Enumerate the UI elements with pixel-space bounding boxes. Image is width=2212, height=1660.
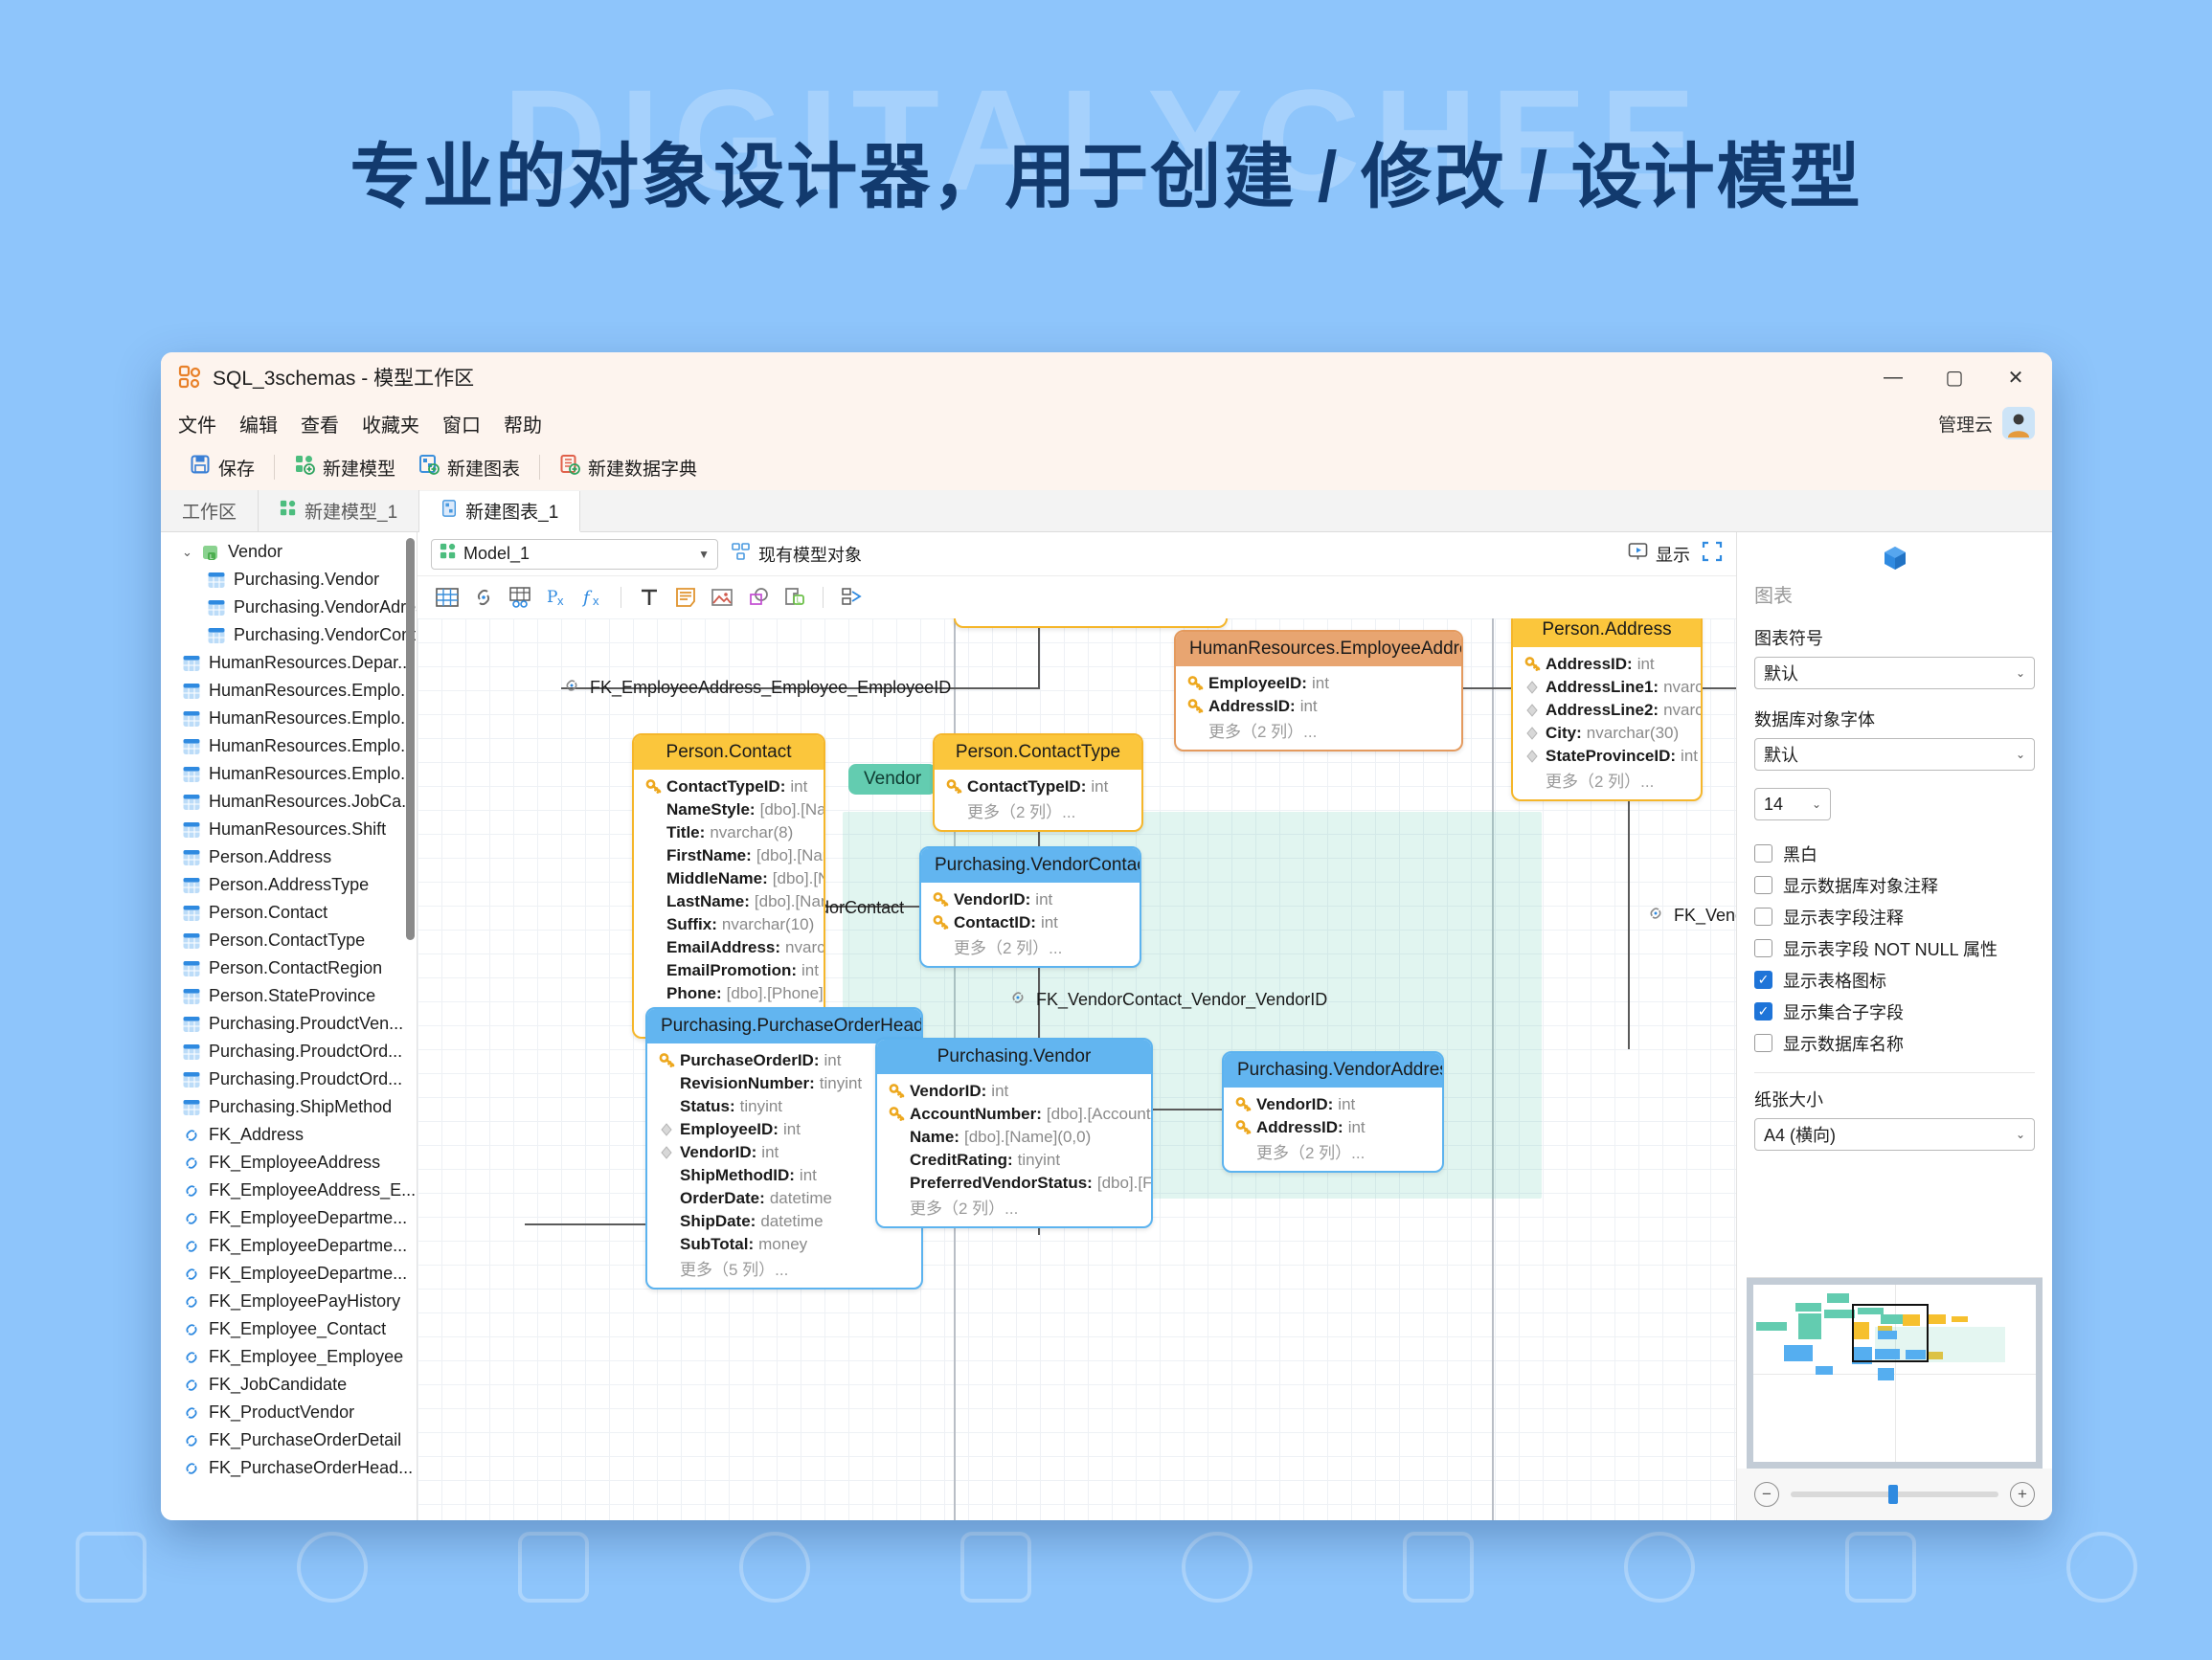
menu-item-window[interactable]: 窗口 [442,410,481,437]
model-select-value: Model_1 [463,544,530,564]
decor-icon [1624,1532,1695,1603]
tree-item-label: FK_EmployeeAddress_E... [209,1180,416,1200]
table-node-fields: VendorID:intAccountNumber:[dbo].[Account… [877,1074,1151,1226]
tree-item[interactable]: Purchasing.ShipMethod [161,1093,417,1121]
display-option-row[interactable]: 显示数据库名称 [1754,1027,2035,1059]
relation-label[interactable]: FK_VendorContact_Vendor_VendorID [1007,988,1327,1012]
function-icon[interactable]: fx [576,583,609,612]
decor-icon [2066,1532,2137,1603]
tab-workspace[interactable]: 工作区 [161,490,259,531]
table-field-row: EmployeeID:int [657,1118,912,1141]
minimap-area: − + [1737,1277,2052,1520]
tree-item[interactable]: HumanResources.Shift [161,816,417,843]
table-field-row: AddressLine2:nvarchar(... [1523,699,1691,722]
tree-item-label: HumanResources.Emplo... [209,708,415,729]
table-icon [182,1015,201,1034]
primary-key-icon [1187,698,1208,715]
chevron-down-icon: ⌄ [2016,748,2025,761]
field-name: EmployeeID: [1208,673,1307,694]
symbol-select[interactable]: 默认 ⌄ [1754,657,2035,689]
display-option-row[interactable]: 显示表字段注释 [1754,901,2035,932]
minimize-button[interactable]: — [1862,352,1924,402]
tree-item[interactable]: FK_Address [161,1121,417,1149]
foreign-key-icon [182,1431,201,1450]
tree-item[interactable]: Purchasing.ProudctOrd... [161,1066,417,1093]
paper-size-select[interactable]: A4 (横向) ⌄ [1754,1118,2035,1151]
tree-item-label: Purchasing.ShipMethod [209,1097,392,1117]
field-type: int [1041,912,1058,933]
field-name: AddressLine1: [1546,677,1659,698]
tree-item[interactable]: HumanResources.Emplo... [161,677,417,705]
relation-icon[interactable] [467,583,500,612]
tree-item-label: FK_Employee_Employee [209,1347,403,1367]
field-name: PreferredVendorStatus: [910,1173,1093,1194]
field-type: int [1681,746,1698,767]
decor-icon [518,1532,589,1603]
decor-icon [960,1532,1031,1603]
zoom-bar: − + [1737,1469,2052,1520]
table-node-fields: VendorID:intAddressID:int更多（2 列）... [1224,1088,1442,1171]
field-type: money [758,1234,807,1255]
tree-item-label: Purchasing.Vendor [234,570,379,590]
tree-item-label: FK_EmployeePayHistory [209,1291,400,1312]
table-node-title: Purchasing.VendorContact [921,848,1140,883]
table-more-columns[interactable]: 更多（5 列）... [657,1256,912,1280]
field-name: ContactTypeID: [967,776,1086,797]
field-name: ContactTypeID: [666,776,785,797]
tree-item[interactable]: Person.Address [161,843,417,871]
foreign-key-icon [182,1237,201,1256]
table-field-row: NameStyle:[dbo].[NameSt... [643,798,814,821]
minimap-inner[interactable] [1753,1285,2036,1462]
field-name: ShipMethodID: [680,1165,795,1186]
account-area[interactable]: 管理云 [1938,407,2035,439]
avatar[interactable] [2002,407,2035,439]
column-marker-icon [1524,703,1546,718]
table-field-row: PurchaseOrderID:int [657,1049,912,1072]
maximize-button[interactable]: ▢ [1924,352,1985,402]
tree-item[interactable]: Purchasing.ProudctOrd... [161,1038,417,1066]
table-more-columns[interactable]: 更多（2 列）... [931,934,1130,958]
column-marker-icon [1524,726,1546,741]
table-icon [182,820,201,840]
table-icon [182,959,201,978]
account-label: 管理云 [1938,411,1993,437]
checkbox[interactable] [1754,876,1772,894]
checkbox[interactable] [1754,844,1772,863]
zoom-in-button[interactable]: + [2010,1482,2035,1507]
minimap-node [1878,1368,1895,1380]
menu-item-edit[interactable]: 编辑 [239,410,278,437]
menu-bar: 文件 编辑 查看 收藏夹 窗口 帮助 管理云 [161,402,2052,444]
minimap[interactable] [1747,1277,2043,1469]
field-type: tinyint [740,1096,782,1117]
table-icon [182,1043,201,1062]
field-name: EmployeeID: [680,1119,779,1140]
field-type: nvarchar(... [1663,677,1703,698]
table-icon [182,987,201,1006]
tree-item[interactable]: Person.Contact [161,899,417,927]
table-field-row: EmailAddress:nvarchar(50) [643,936,814,959]
table-field-row: ContactTypeID:int [944,775,1132,798]
display-option-label: 显示表字段 NOT NULL 属性 [1783,936,1998,961]
field-name: City: [1546,723,1582,744]
foreign-key-icon [182,1320,201,1339]
table-field-row: VendorID:int [657,1141,912,1164]
tree-item[interactable]: FK_EmployeeDepartme... [161,1260,417,1288]
diagram-canvas[interactable]: Vendor FK_EmployeeAddress_E [418,618,1736,1520]
chevron-down-icon: ⌄ [1812,797,1821,811]
field-name: SubTotal: [680,1234,754,1255]
tree-item[interactable]: FK_PurchaseOrderHead... [161,1454,417,1482]
table-field-row: AddressID:int [1185,695,1452,718]
paper-size-label: 纸张大小 [1754,1087,2035,1111]
primary-key-icon [645,778,666,796]
field-name: StateProvinceID: [1546,746,1676,767]
diagram-table-node[interactable]: Person.AddressAddressID:intAddressLine1:… [1511,618,1703,801]
decor-icon [297,1532,368,1603]
primary-key-icon [1524,656,1546,673]
minimap-node [1816,1366,1833,1375]
field-type: [dbo].[Phone](0,0) [727,983,825,1004]
decor-icon [1845,1532,1916,1603]
table-field-row: EmployeeID:int [1185,672,1452,695]
tree-item[interactable]: FK_ProductVendor [161,1399,417,1426]
primary-key-icon [933,891,954,909]
field-type: nvarchar(30) [1587,723,1679,744]
decor-icon [739,1532,810,1603]
symbol-select-value: 默认 [1764,661,1798,685]
display-option-label: 显示数据库对象注释 [1783,873,1938,898]
checkbox[interactable] [1754,939,1772,957]
field-type: int [790,776,807,797]
table-icon [182,904,201,923]
menu-item-view[interactable]: 查看 [301,410,339,437]
diagram-table-node[interactable]: Person.ContactTypeContactTypeID:int更多（2 … [933,733,1143,832]
table-more-columns[interactable]: 更多（2 列）... [1185,718,1452,742]
table-field-row: SubTotal:money [657,1233,912,1256]
relation-edge [1153,1109,1222,1110]
window-controls: — ▢ ✕ [1862,352,2046,402]
table-field-row: City:nvarchar(30) [1523,722,1691,745]
relation-label[interactable]: FK_EmployeeAddress_Employee_EmployeeID [561,676,951,700]
field-type: datetime [760,1211,823,1232]
field-name: Title: [666,822,705,843]
decor-icon [1182,1532,1253,1603]
diagram-table-node[interactable]: Purchasing.VendorVendorID:intAccountNumb… [875,1038,1153,1228]
table-icon [182,737,201,756]
tree-item-label: Person.StateProvince [209,986,375,1006]
field-name: Name: [910,1127,959,1148]
existing-objects-button[interactable]: 现有模型对象 [732,542,862,567]
checkbox[interactable] [1754,1034,1772,1052]
table-field-row: FirstName:[dbo].[Name](0... [643,844,814,867]
table-node-title: Person.ContactType [935,735,1141,770]
svg-text:L: L [797,596,801,605]
menu-item-help[interactable]: 帮助 [504,410,542,437]
display-option-label: 显示表格图标 [1783,968,1886,993]
tree-item-label: FK_Address [209,1125,304,1145]
checkbox[interactable]: ✓ [1754,971,1772,989]
table-field-row: ContactTypeID:int [643,775,814,798]
field-name: EmailPromotion: [666,960,797,981]
field-name: MiddleName: [666,868,768,889]
field-name: LastName: [666,891,750,912]
table-icon [182,709,201,729]
link-icon [561,676,582,700]
chevron-down-icon: ⌄ [2016,1128,2025,1141]
tree-item[interactable]: HumanResources.Emplo... [161,732,417,760]
table-field-row: AddressID:int [1523,653,1691,676]
chevron-down-icon[interactable]: ⌄ [182,545,197,560]
display-option-row[interactable]: 显示数据库对象注释 [1754,869,2035,901]
zoom-slider-thumb[interactable] [1888,1485,1898,1504]
new-model-button[interactable]: 新建模型 [282,450,407,484]
table-more-columns[interactable]: 更多（2 列）... [944,798,1132,822]
image-icon[interactable] [706,583,738,612]
tree-item[interactable]: Person.ContactRegion [161,954,417,982]
properties-top: 图表 图表符号 默认 ⌄ 数据库对象字体 默认 ⌄ 14 ⌄ 黑白显示数据库对象… [1737,532,2052,1168]
tree-item[interactable]: Purchasing.Vendor [161,566,417,594]
minimap-viewport[interactable] [1852,1304,1929,1362]
field-type: int [783,1119,801,1140]
table-field-row: VendorID:int [931,888,1130,911]
display-option-row[interactable]: ✓显示表格图标 [1754,964,2035,996]
table-icon [182,848,201,867]
close-button[interactable]: ✕ [1985,352,2046,402]
existing-objects-label: 现有模型对象 [758,542,862,567]
field-type: [dbo].[NameSt... [760,799,825,820]
relation-label-text: FK_EmployeeAddress_Employee_EmployeeID [590,678,951,698]
table-node-title: Person.Contact [634,735,824,770]
minimap-node [1798,1313,1821,1340]
diagram-table-node[interactable]: Purchasing.VendorAddressVendorID:intAddr… [1222,1051,1444,1173]
tree-item-label: FK_PurchaseOrderHead... [209,1458,413,1478]
toolbar-divider [539,455,540,480]
tree-item-label: HumanResources.Emplo... [209,681,415,701]
shape-icon[interactable] [742,583,775,612]
tree-item-label: Purchasing.ProudctVen... [209,1014,403,1034]
tree-item[interactable]: HumanResources.Depar... [161,649,417,677]
checkbox[interactable]: ✓ [1754,1002,1772,1021]
tree-item-label: HumanResources.Shift [209,819,386,840]
display-option-row[interactable]: 显示表字段 NOT NULL 属性 [1754,932,2035,964]
new-dictionary-button[interactable]: 新建数据字典 [548,450,709,484]
diagram-table-node[interactable]: HumanResources.EmployeeAddressEmployeeID… [1174,630,1463,751]
group-icon[interactable]: L [779,583,811,612]
field-type: [dbo].[Name](0,0) [964,1127,1091,1148]
tree-item-label: Person.AddressType [209,875,369,895]
table-more-columns[interactable]: 更多（2 列）... [1233,1139,1433,1163]
tab-new-model[interactable]: 新建模型_1 [259,490,419,531]
table-node-title: Purchasing.VendorAddress [1224,1053,1442,1088]
foreign-key-icon [182,1348,201,1367]
table-icon[interactable] [431,583,463,612]
tree-root-label: Vendor [228,542,282,562]
tree-item-label: Purchasing.ProudctOrd... [209,1042,402,1062]
table-field-row: OrderDate:datetime [657,1187,912,1210]
minimap-node [1756,1322,1787,1331]
font-label: 数据库对象字体 [1754,707,2035,731]
field-type: int [1091,776,1108,797]
display-option-label: 显示表字段注释 [1783,905,1904,930]
present-icon [1628,542,1649,566]
svg-text:x: x [593,594,599,608]
chevron-down-icon: ⌄ [2016,666,2025,680]
tab-new-model-label: 新建模型_1 [305,498,397,524]
save-icon [190,454,211,481]
display-option-row[interactable]: 黑白 [1754,838,2035,869]
relation-label[interactable]: FK_VendorAddress_Address_ [1645,904,1736,928]
field-type: int [1300,696,1318,717]
field-name: VendorID: [954,889,1030,910]
new-dictionary-icon [559,454,580,481]
column-marker-icon [659,1122,680,1137]
field-type: [dbo].[Name](0... [756,845,825,866]
tab-new-diagram[interactable]: 新建图表_1 [419,491,580,532]
foreign-key-icon [182,1154,201,1173]
save-button[interactable]: 保存 [178,450,266,484]
field-name: RevisionNumber: [680,1073,815,1094]
field-name: AddressID: [1546,654,1633,675]
column-marker-icon [659,1145,680,1160]
foreign-key-icon [182,1265,201,1284]
app-logo-icon [178,365,203,390]
tree-item[interactable]: HumanResources.JobCa... [161,788,417,816]
page-headline: 专业的对象设计器，用于创建 / 修改 / 设计模型 [0,120,2212,222]
tree-item-label: HumanResources.Emplo... [209,736,415,756]
diagram-table-node[interactable]: Person.ContactContactTypeID:intNameStyle… [632,733,825,1039]
tree-item-label: FK_PurchaseOrderDetail [209,1430,401,1450]
menu-item-favorites[interactable]: 收藏夹 [362,410,419,437]
tree-item[interactable]: HumanResources.Emplo... [161,705,417,732]
show-label: 显示 [1656,542,1690,567]
tree-item[interactable]: FK_Employee_Contact [161,1315,417,1343]
tree-item[interactable]: FK_JobCandidate [161,1371,417,1399]
tree-item-label: FK_ProductVendor [209,1402,354,1423]
table-field-row: Suffix:nvarchar(10) [643,913,814,936]
title-bar: SQL_3schemas - 模型工作区 — ▢ ✕ [161,352,2052,402]
table-node-fields: ModifiedDate:datetime [956,618,1226,626]
tree-item[interactable]: Purchasing.VendorCont... [161,621,417,649]
table-field-row: Phone:[dbo].[Phone](0,0) [643,982,814,1005]
primary-key-icon [1235,1096,1256,1113]
tree-item[interactable]: FK_EmployeeDepartme... [161,1204,417,1232]
tree-item[interactable]: FK_EmployeeAddress [161,1149,417,1177]
minimap-node [1824,1310,1855,1318]
text-icon[interactable] [633,583,666,612]
tree-item[interactable]: FK_Employee_Employee [161,1343,417,1371]
table-icon [182,682,201,701]
tree-item[interactable]: Person.StateProvince [161,982,417,1010]
tree-item[interactable]: FK_EmployeePayHistory [161,1288,417,1315]
table-more-columns[interactable]: 更多（2 列）... [1523,768,1691,792]
field-type: nvarchar(50) [785,937,825,958]
table-field-row: EmailPromotion:int [643,959,814,982]
tree-item[interactable]: FK_EmployeeAddress_E... [161,1177,417,1204]
tab-workspace-label: 工作区 [182,498,237,524]
display-option-row[interactable]: ✓显示集合子字段 [1754,996,2035,1027]
show-button[interactable]: 显示 [1628,542,1690,567]
sidebar-scrollbar[interactable] [406,538,415,940]
tree-item[interactable]: Person.AddressType [161,871,417,899]
tree-item[interactable]: Purchasing.ProudctVen... [161,1010,417,1038]
zoom-slider-track[interactable] [1791,1492,1998,1497]
field-type: int [800,1165,817,1186]
field-type: int [801,960,819,981]
svg-text:x: x [557,594,564,608]
group-tag-vendor[interactable]: Vendor [848,764,937,795]
window-body: ⌄ L Vendor Purchasing.VendorPurchasing.V… [161,532,2052,1520]
table-field-row: LastName:[dbo].[Name](0... [643,890,814,913]
menu-item-file[interactable]: 文件 [178,410,216,437]
font-select[interactable]: 默认 ⌄ [1754,738,2035,771]
field-name: ShipDate: [680,1211,756,1232]
table-icon [182,931,201,951]
table-icon [182,793,201,812]
tree-root-vendor[interactable]: ⌄ L Vendor [161,538,417,566]
chevron-down-icon: ▼ [698,548,710,561]
relation-label-text: FK_VendorAddress_Address_ [1674,906,1736,926]
foreign-key-icon [182,1292,201,1312]
table-node-fields: EmployeeID:intAddressID:int更多（2 列）... [1176,666,1461,750]
model-select[interactable]: Model_1 ▼ [431,539,718,570]
main-toolbar: 保存 新建模型 新建图表 新建数据字典 [161,444,2052,490]
zoom-out-button[interactable]: − [1754,1482,1779,1507]
table-node-fields: ContactTypeID:int更多（2 列）... [935,770,1141,830]
tree-item[interactable]: Purchasing.VendorAdress [161,594,417,621]
tree-item-label: Purchasing.VendorCont... [234,625,418,645]
tree-item-label: HumanResources.Emplo... [209,764,415,784]
font-size-select[interactable]: 14 ⌄ [1754,788,1831,820]
procedure-icon[interactable]: Px [540,583,573,612]
new-diagram-icon [418,454,440,481]
table-node-fields: ContactTypeID:intNameStyle:[dbo].[NameSt… [634,770,824,1037]
tree-item[interactable]: FK_PurchaseOrderDetail [161,1426,417,1454]
link-icon [1007,988,1028,1012]
diagram-table-node[interactable]: Purchasing.VendorContactVendorID:intCont… [919,846,1141,968]
tree-item-label: Person.Address [209,847,331,867]
tab-strip-filler [580,490,2052,531]
table-more-columns[interactable]: 更多（2 列）... [887,1195,1141,1219]
layout-icon[interactable] [835,583,868,612]
field-name: Phone: [666,983,722,1004]
tree-item[interactable]: FK_EmployeeDepartme... [161,1232,417,1260]
tree-item[interactable]: HumanResources.Emplo... [161,760,417,788]
field-name: EmailAddress: [666,937,780,958]
tree-item[interactable]: Person.ContactType [161,927,417,954]
new-diagram-button[interactable]: 新建图表 [407,450,531,484]
note-icon[interactable] [669,583,702,612]
diagram-table-node[interactable]: ModifiedDate:datetime [954,618,1228,628]
tab-diagram-icon [440,500,458,523]
tab-model-icon [280,500,297,523]
fullscreen-icon[interactable] [1702,541,1723,567]
primary-key-icon [933,914,954,931]
field-name: Suffix: [666,914,717,935]
view-icon[interactable] [504,583,536,612]
object-tree-sidebar[interactable]: ⌄ L Vendor Purchasing.VendorPurchasing.V… [161,532,418,1520]
foreign-key-icon [182,1376,201,1395]
field-type: tinyint [820,1073,862,1094]
table-node-title: HumanResources.EmployeeAddress [1176,632,1461,666]
field-type: int [1312,673,1329,694]
table-node-fields: VendorID:intContactID:int更多（2 列）... [921,883,1140,966]
checkbox[interactable] [1754,908,1772,926]
table-icon [207,598,226,617]
diagram-header-right: 显示 [1628,541,1723,567]
field-type: [dbo].[Name](0... [755,891,825,912]
